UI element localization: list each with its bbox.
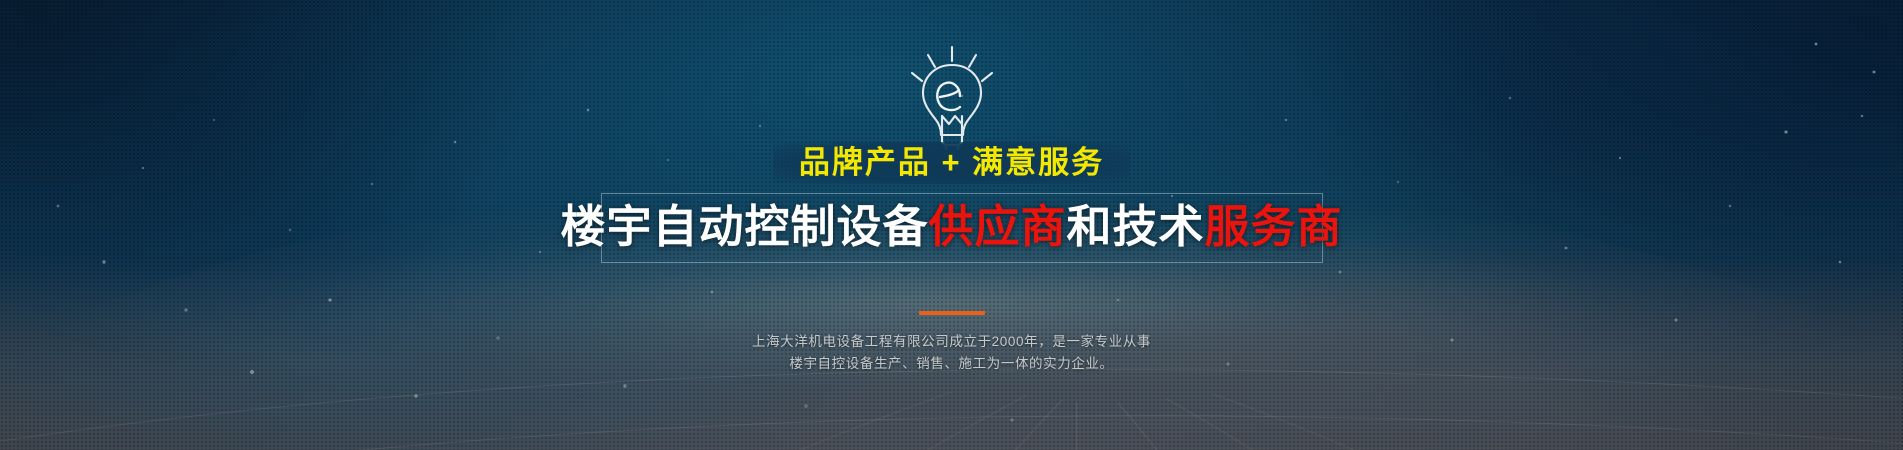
headline-segment-2-highlight: 供应商 xyxy=(928,201,1066,252)
lightbulb-logo: e xyxy=(0,42,1903,150)
lightbulb-idea-icon: e xyxy=(893,42,1011,150)
description-line-1: 上海大洋机电设备工程有限公司成立于2000年，是一家专业从事 xyxy=(0,331,1903,353)
hero-banner: e 品牌产品 + 满意服务 楼宇自动控制设备供应商和技术服务商 上海大洋机电设备… xyxy=(0,0,1903,450)
headline-segment-1: 楼宇自动控制设备 xyxy=(560,201,928,252)
orange-divider xyxy=(919,311,985,315)
description-line-2: 楼宇自控设备生产、销售、施工为一体的实力企业。 xyxy=(0,353,1903,375)
headline-segment-3: 和技术 xyxy=(1067,201,1205,252)
company-description: 上海大洋机电设备工程有限公司成立于2000年，是一家专业从事 楼宇自控设备生产、… xyxy=(0,331,1903,375)
tagline: 品牌产品 + 满意服务 xyxy=(0,142,1903,184)
headline-segment-4-highlight: 服务商 xyxy=(1205,201,1343,252)
tagline-text: 品牌产品 + 满意服务 xyxy=(773,142,1130,184)
page-title: 楼宇自动控制设备供应商和技术服务商 xyxy=(0,192,1903,262)
